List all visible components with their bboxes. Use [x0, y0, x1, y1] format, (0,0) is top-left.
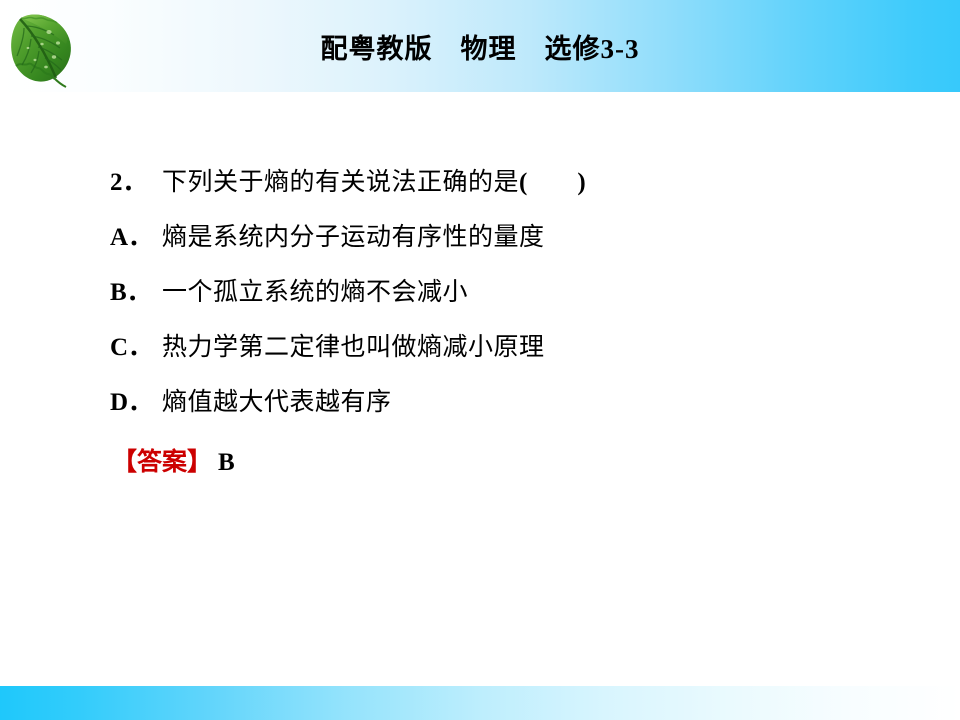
option-row-b[interactable]: B． 一个孤立系统的熵不会减小	[110, 272, 910, 327]
footer-band	[0, 686, 960, 720]
option-text-b: 一个孤立系统的熵不会减小	[162, 272, 468, 308]
option-label-a: A．	[110, 217, 162, 253]
option-text-d: 熵值越大代表越有序	[162, 382, 392, 418]
option-label-d: D．	[110, 382, 162, 418]
option-text-a: 熵是系统内分子运动有序性的量度	[162, 217, 545, 253]
option-row-d[interactable]: D． 熵值越大代表越有序	[110, 382, 910, 437]
option-row-c[interactable]: C． 热力学第二定律也叫做熵减小原理	[110, 327, 910, 382]
header-band: 配粤教版 物理 选修3-3	[0, 0, 960, 92]
question-number: 2．	[110, 162, 162, 198]
option-label-b: B．	[110, 272, 162, 308]
answer-value: B	[212, 449, 235, 477]
question-block: 2． 下列关于熵的有关说法正确的是 ( ) A． 熵是系统内分子运动有序性的量度…	[110, 162, 910, 497]
question-stem-line: 2． 下列关于熵的有关说法正确的是 ( )	[110, 162, 910, 217]
answer-bracket: ( )	[519, 162, 586, 198]
option-text-c: 热力学第二定律也叫做熵减小原理	[162, 327, 545, 363]
page-title: 配粤教版 物理 选修3-3	[0, 0, 960, 92]
slide-content-area: 2． 下列关于熵的有关说法正确的是 ( ) A． 熵是系统内分子运动有序性的量度…	[0, 92, 960, 686]
question-stem-text: 下列关于熵的有关说法正确的是	[162, 162, 519, 198]
answer-label: 【答案】	[112, 442, 212, 478]
answer-line: 【答案】 B	[110, 442, 910, 497]
option-row-a[interactable]: A． 熵是系统内分子运动有序性的量度	[110, 217, 910, 272]
option-label-c: C．	[110, 327, 162, 363]
